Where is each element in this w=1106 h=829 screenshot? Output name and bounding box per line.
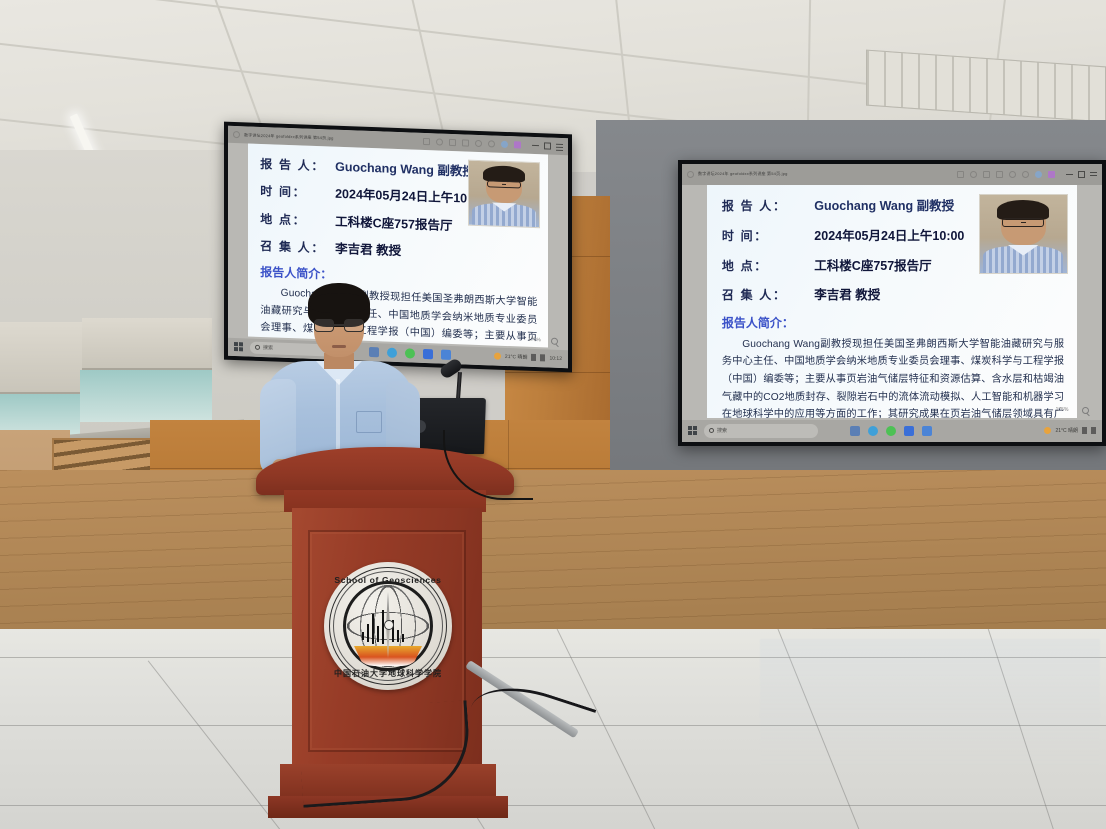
window-controls-left[interactable] xyxy=(532,142,563,150)
menu-icon[interactable] xyxy=(556,143,563,150)
slide-value-time: 2024年05月24日上午10:00 xyxy=(814,225,964,244)
slide-value-convener: 李吉君 教授 xyxy=(335,238,401,259)
favorite-icon[interactable] xyxy=(996,171,1003,178)
taskview-icon[interactable] xyxy=(850,426,860,436)
ceiling-air-vent xyxy=(866,50,1106,123)
viewer-titlebar-right: 数字讲坛2024年 geofoldxx系列讲座 第54页.jpg xyxy=(682,164,1102,185)
settings-icon[interactable] xyxy=(441,349,451,359)
edge-browser-icon[interactable] xyxy=(868,426,878,436)
weather-label[interactable]: 21°C 晴朗 xyxy=(1055,427,1078,434)
taskbar-clock[interactable]: 10:12 xyxy=(549,355,562,361)
share-icon[interactable] xyxy=(436,139,443,146)
slide-label-time: 时 间： xyxy=(722,227,814,244)
slide-bio-body: Guochang Wang副教授现担任美国圣弗朗西斯大学智能油藏研究与服务中心主… xyxy=(722,336,1064,418)
window-blind[interactable] xyxy=(82,318,212,370)
taskbar-apps[interactable] xyxy=(850,426,932,436)
zoom-level-left: 175% xyxy=(528,337,541,343)
settings-icon[interactable] xyxy=(922,426,932,436)
search-placeholder: 搜索 xyxy=(717,427,727,434)
slide-label-speaker: 报 告 人： xyxy=(260,155,335,175)
app-icon xyxy=(687,171,694,178)
emblem-english-text: School of Geosciences xyxy=(324,575,452,585)
viewer-window-title: 数字讲坛2024年 geofoldxx系列讲座 第54页.jpg xyxy=(698,171,788,177)
battery-icon[interactable] xyxy=(1082,427,1087,434)
slide-label-convener: 召 集 人： xyxy=(722,286,814,303)
slide-value-convener: 李吉君 教授 xyxy=(814,284,880,303)
photos-icon[interactable] xyxy=(904,426,914,436)
viewer-toolbar[interactable] xyxy=(957,171,1055,178)
slide-label-convener: 召 集 人： xyxy=(260,237,335,257)
slide-value-place: 工科楼C座757报告厅 xyxy=(335,211,452,234)
minimize-icon[interactable] xyxy=(532,142,539,146)
start-button[interactable] xyxy=(234,342,243,351)
cloud-icon[interactable] xyxy=(501,141,508,148)
eyeglasses-icon xyxy=(314,319,364,332)
rotate-icon[interactable] xyxy=(1022,171,1029,178)
maximize-icon[interactable] xyxy=(544,142,551,149)
slide-label-speaker: 报 告 人： xyxy=(722,197,814,214)
slide-value-speaker: Guochang Wang 副教授 xyxy=(335,155,475,179)
floor-reflection xyxy=(760,639,1100,769)
search-icon xyxy=(255,345,260,350)
battery-icon[interactable] xyxy=(531,354,536,361)
slide-value-time: 2024年05月24日上午10:00 xyxy=(335,183,485,208)
edit-icon[interactable] xyxy=(423,138,430,145)
presentation-slide-right: 报 告 人： Guochang Wang 副教授 时 间： 2024年05月24… xyxy=(707,185,1077,419)
share-icon[interactable] xyxy=(970,171,977,178)
menu-icon[interactable] xyxy=(1090,171,1097,178)
favorite-icon[interactable] xyxy=(462,139,469,146)
app-icon xyxy=(233,131,240,138)
weather-icon xyxy=(1044,427,1051,434)
rotate-icon[interactable] xyxy=(488,140,495,147)
info-icon[interactable] xyxy=(475,140,482,147)
minimize-icon[interactable] xyxy=(1066,171,1073,175)
viewer-window-title: 数字讲坛2024年 geofoldxx系列讲座 第54页.jpg xyxy=(244,132,334,141)
search-icon xyxy=(709,428,714,433)
window-controls-right[interactable] xyxy=(1066,171,1097,178)
info-icon[interactable] xyxy=(1009,171,1016,178)
slide-value-place: 工科楼C座757报告厅 xyxy=(814,255,931,274)
highlight-icon[interactable] xyxy=(514,141,521,148)
lecture-hall-photo: 数字讲坛2024年 geofoldxx系列讲座 第54页.jpg xyxy=(0,0,1106,829)
cloud-icon[interactable] xyxy=(1035,171,1042,178)
volume-icon[interactable] xyxy=(1091,427,1096,434)
taskbar-tray[interactable]: 21°C 晴朗 10:12 xyxy=(494,353,562,362)
slide-value-speaker: Guochang Wang 副教授 xyxy=(814,195,954,214)
maximize-icon[interactable] xyxy=(1078,171,1085,178)
delete-icon[interactable] xyxy=(449,139,456,146)
photos-icon[interactable] xyxy=(423,349,433,359)
window-blind[interactable] xyxy=(0,322,82,394)
zoom-level-right: 175% xyxy=(1056,407,1069,413)
wechat-icon[interactable] xyxy=(886,426,896,436)
speaker-headshot xyxy=(979,194,1068,273)
slide-label-place: 地 点： xyxy=(722,257,814,274)
taskbar-tray[interactable]: 21°C 晴朗 xyxy=(1044,427,1096,434)
window-glass xyxy=(80,370,212,422)
highlight-icon[interactable] xyxy=(1048,171,1055,178)
weather-label[interactable]: 21°C 晴朗 xyxy=(505,353,528,361)
projection-screen-right: 数字讲坛2024年 geofoldxx系列讲座 第54页.jpg xyxy=(678,160,1106,446)
search-icon[interactable] xyxy=(1082,407,1089,414)
slide-bio-heading: 报告人简介： xyxy=(722,314,1064,331)
weather-icon xyxy=(494,353,501,360)
windows-taskbar-right[interactable]: 搜索 21°C 晴朗 xyxy=(682,420,1102,442)
taskbar-search-input[interactable]: 搜索 xyxy=(704,424,818,438)
slide-label-place: 地 点： xyxy=(260,210,335,230)
edit-icon[interactable] xyxy=(957,171,964,178)
start-button[interactable] xyxy=(688,426,697,435)
school-emblem: School of Geosciences 中国石油大学地球科学学院 xyxy=(324,562,452,690)
slide-label-time: 时 间： xyxy=(260,182,335,202)
viewer-toolbar[interactable] xyxy=(423,138,521,149)
search-icon[interactable] xyxy=(551,337,558,344)
volume-icon[interactable] xyxy=(540,355,545,362)
speaker-headshot xyxy=(468,160,540,228)
delete-icon[interactable] xyxy=(983,171,990,178)
emblem-chinese-text: 中国石油大学地球科学学院 xyxy=(324,668,452,679)
